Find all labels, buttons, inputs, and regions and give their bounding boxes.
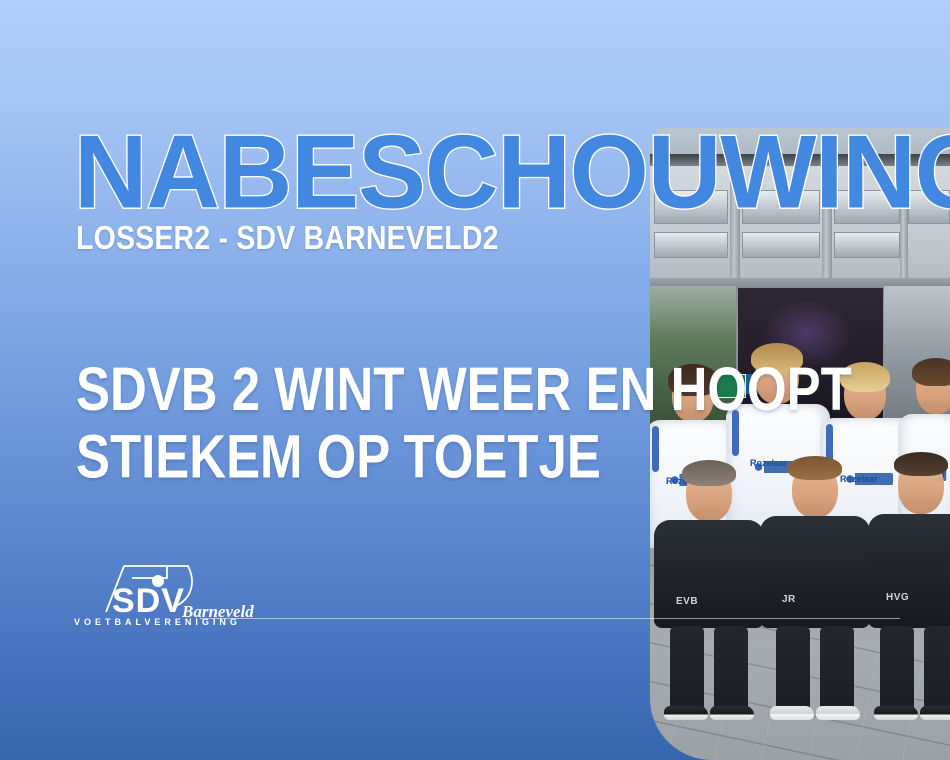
headline-line-1: SDVB 2 WINT WEER EN HOOPT [76, 357, 684, 424]
logo-mark-text: SDV [112, 582, 185, 620]
club-logo: SDV Barneveld VOETBALVERENIGING [72, 560, 272, 632]
headline: SDVB 2 WINT WEER EN HOOPT STIEKEM OP TOE… [76, 357, 684, 492]
match-subtitle: LOSSER2 - SDV BARNEVELD2 [76, 221, 499, 257]
sdv-barneveld-logo-icon: SDV Barneveld VOETBALVERENIGING [72, 560, 272, 632]
poster-canvas: Rozelaar Rozelaar Rozelaar [0, 0, 950, 760]
photo-window [742, 232, 820, 258]
photo-window [834, 232, 900, 258]
headline-line-2: STIEKEM OP TOETJE [76, 424, 684, 491]
page-title: NABESCHOUWING [74, 121, 950, 225]
photo-window [654, 232, 728, 258]
logo-divider-line [200, 618, 900, 619]
